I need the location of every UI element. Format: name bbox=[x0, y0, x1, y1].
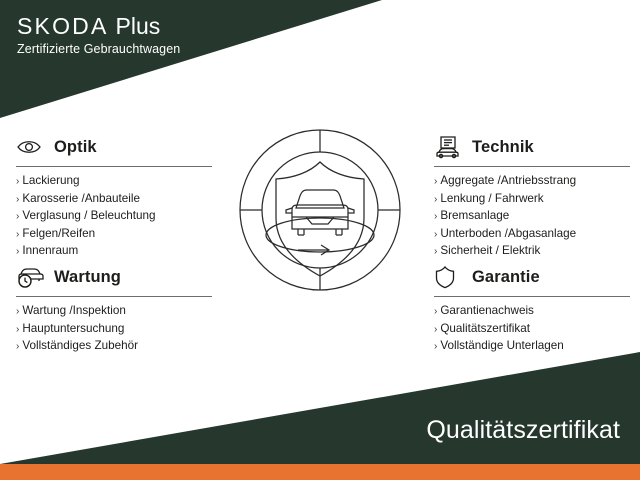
list-item-label: Hauptuntersuchung bbox=[22, 321, 124, 338]
section-header: Technik bbox=[434, 132, 630, 162]
list-item: ›Aggregate /Antriebsstrang bbox=[434, 173, 630, 191]
list-item: ›Wartung /Inspektion bbox=[16, 303, 212, 321]
section-divider bbox=[16, 296, 212, 297]
section-wartung: Wartung ›Wartung /Inspektion ›Hauptunter… bbox=[16, 262, 212, 356]
brand-wordmark-row: SKODAPlus bbox=[17, 13, 180, 39]
chevron-right-icon: › bbox=[434, 209, 437, 226]
section-divider bbox=[434, 296, 630, 297]
list-item-label: Karosserie /Anbauteile bbox=[22, 191, 140, 208]
section-garantie: Garantie ›Garantienachweis ›Qualitätszer… bbox=[434, 262, 630, 356]
list-item: ›Lackierung bbox=[16, 173, 212, 191]
list-item-label: Felgen/Reifen bbox=[22, 226, 95, 243]
chevron-right-icon: › bbox=[434, 304, 437, 321]
list-item: ›Verglasung / Beleuchtung bbox=[16, 208, 212, 226]
chevron-right-icon: › bbox=[16, 304, 19, 321]
list-item-label: Qualitätszertifikat bbox=[440, 321, 530, 338]
list-item-label: Verglasung / Beleuchtung bbox=[22, 208, 155, 225]
section-title: Optik bbox=[54, 138, 97, 157]
list-item: ›Garantienachweis bbox=[434, 303, 630, 321]
car-document-icon bbox=[434, 134, 464, 160]
chevron-right-icon: › bbox=[16, 209, 19, 226]
section-optik: Optik ›Lackierung ›Karosserie /Anbauteil… bbox=[16, 132, 212, 261]
brand-tagline: Zertifizierte Gebrauchtwagen bbox=[17, 41, 180, 57]
list-item: ›Felgen/Reifen bbox=[16, 226, 212, 244]
list-item-label: Garantienachweis bbox=[440, 303, 534, 320]
list-item-label: Aggregate /Antriebsstrang bbox=[440, 173, 576, 190]
orbit-arrow bbox=[298, 245, 329, 255]
chevron-right-icon: › bbox=[434, 174, 437, 191]
list-item-label: Innenraum bbox=[22, 243, 78, 260]
list-item-label: Vollständiges Zubehör bbox=[22, 338, 138, 355]
chevron-right-icon: › bbox=[16, 227, 19, 244]
orbit-ellipse bbox=[266, 218, 374, 252]
list-item-label: Sicherheit / Elektrik bbox=[440, 243, 540, 260]
section-title: Garantie bbox=[472, 268, 540, 287]
list-item: ›Karosserie /Anbauteile bbox=[16, 191, 212, 209]
list-item: ›Lenkung / Fahrwerk bbox=[434, 191, 630, 209]
chevron-right-icon: › bbox=[16, 339, 19, 356]
section-header: Wartung bbox=[16, 262, 212, 292]
car-front-icon bbox=[286, 190, 354, 235]
list-item: ›Vollständiges Zubehör bbox=[16, 338, 212, 356]
section-header: Garantie bbox=[434, 262, 630, 292]
eye-icon bbox=[16, 134, 46, 160]
list-item-label: Vollständige Unterlagen bbox=[440, 338, 563, 355]
list-item: ›Vollständige Unterlagen bbox=[434, 338, 630, 356]
section-item-list: ›Wartung /Inspektion ›Hauptuntersuchung … bbox=[16, 303, 212, 356]
skoda-wordmark: SKODA bbox=[17, 13, 109, 39]
list-item: ›Sicherheit / Elektrik bbox=[434, 243, 630, 261]
list-item: ›Hauptuntersuchung bbox=[16, 321, 212, 339]
certified-vehicle-shield-emblem bbox=[232, 122, 408, 298]
section-title: Technik bbox=[472, 138, 534, 157]
chevron-right-icon: › bbox=[434, 339, 437, 356]
footer-caption: Qualitätszertifikat bbox=[426, 416, 620, 445]
section-item-list: ›Garantienachweis ›Qualitätszertifikat ›… bbox=[434, 303, 630, 356]
list-item-label: Unterboden /Abgasanlage bbox=[440, 226, 576, 243]
chevron-right-icon: › bbox=[434, 227, 437, 244]
plus-wordmark: Plus bbox=[116, 13, 161, 39]
list-item-label: Lenkung / Fahrwerk bbox=[440, 191, 543, 208]
section-item-list: ›Lackierung ›Karosserie /Anbauteile ›Ver… bbox=[16, 173, 212, 261]
certificate-graphic: SKODAPlus Zertifizierte Gebrauchtwagen bbox=[0, 0, 640, 480]
list-item: ›Unterboden /Abgasanlage bbox=[434, 226, 630, 244]
section-divider bbox=[434, 166, 630, 167]
list-item-label: Bremsanlage bbox=[440, 208, 509, 225]
ring-cardinal-ticks bbox=[240, 130, 400, 290]
list-item-label: Lackierung bbox=[22, 173, 79, 190]
chevron-right-icon: › bbox=[434, 192, 437, 209]
car-service-clock-icon bbox=[16, 264, 46, 290]
chevron-right-icon: › bbox=[16, 322, 19, 339]
brand-block: SKODAPlus Zertifizierte Gebrauchtwagen bbox=[17, 13, 180, 57]
list-item: ›Bremsanlage bbox=[434, 208, 630, 226]
section-item-list: ›Aggregate /Antriebsstrang ›Lenkung / Fa… bbox=[434, 173, 630, 261]
chevron-right-icon: › bbox=[16, 244, 19, 261]
section-header: Optik bbox=[16, 132, 212, 162]
bottom-orange-bar bbox=[0, 464, 640, 480]
section-title: Wartung bbox=[54, 268, 121, 287]
list-item: ›Innenraum bbox=[16, 243, 212, 261]
section-divider bbox=[16, 166, 212, 167]
list-item: ›Qualitätszertifikat bbox=[434, 321, 630, 339]
section-technik: Technik ›Aggregate /Antriebsstrang ›Lenk… bbox=[434, 132, 630, 261]
chevron-right-icon: › bbox=[434, 322, 437, 339]
list-item-label: Wartung /Inspektion bbox=[22, 303, 126, 320]
outer-ring bbox=[240, 130, 400, 290]
chevron-right-icon: › bbox=[16, 174, 19, 191]
chevron-right-icon: › bbox=[16, 192, 19, 209]
shield-icon bbox=[434, 264, 464, 290]
chevron-right-icon: › bbox=[434, 244, 437, 261]
